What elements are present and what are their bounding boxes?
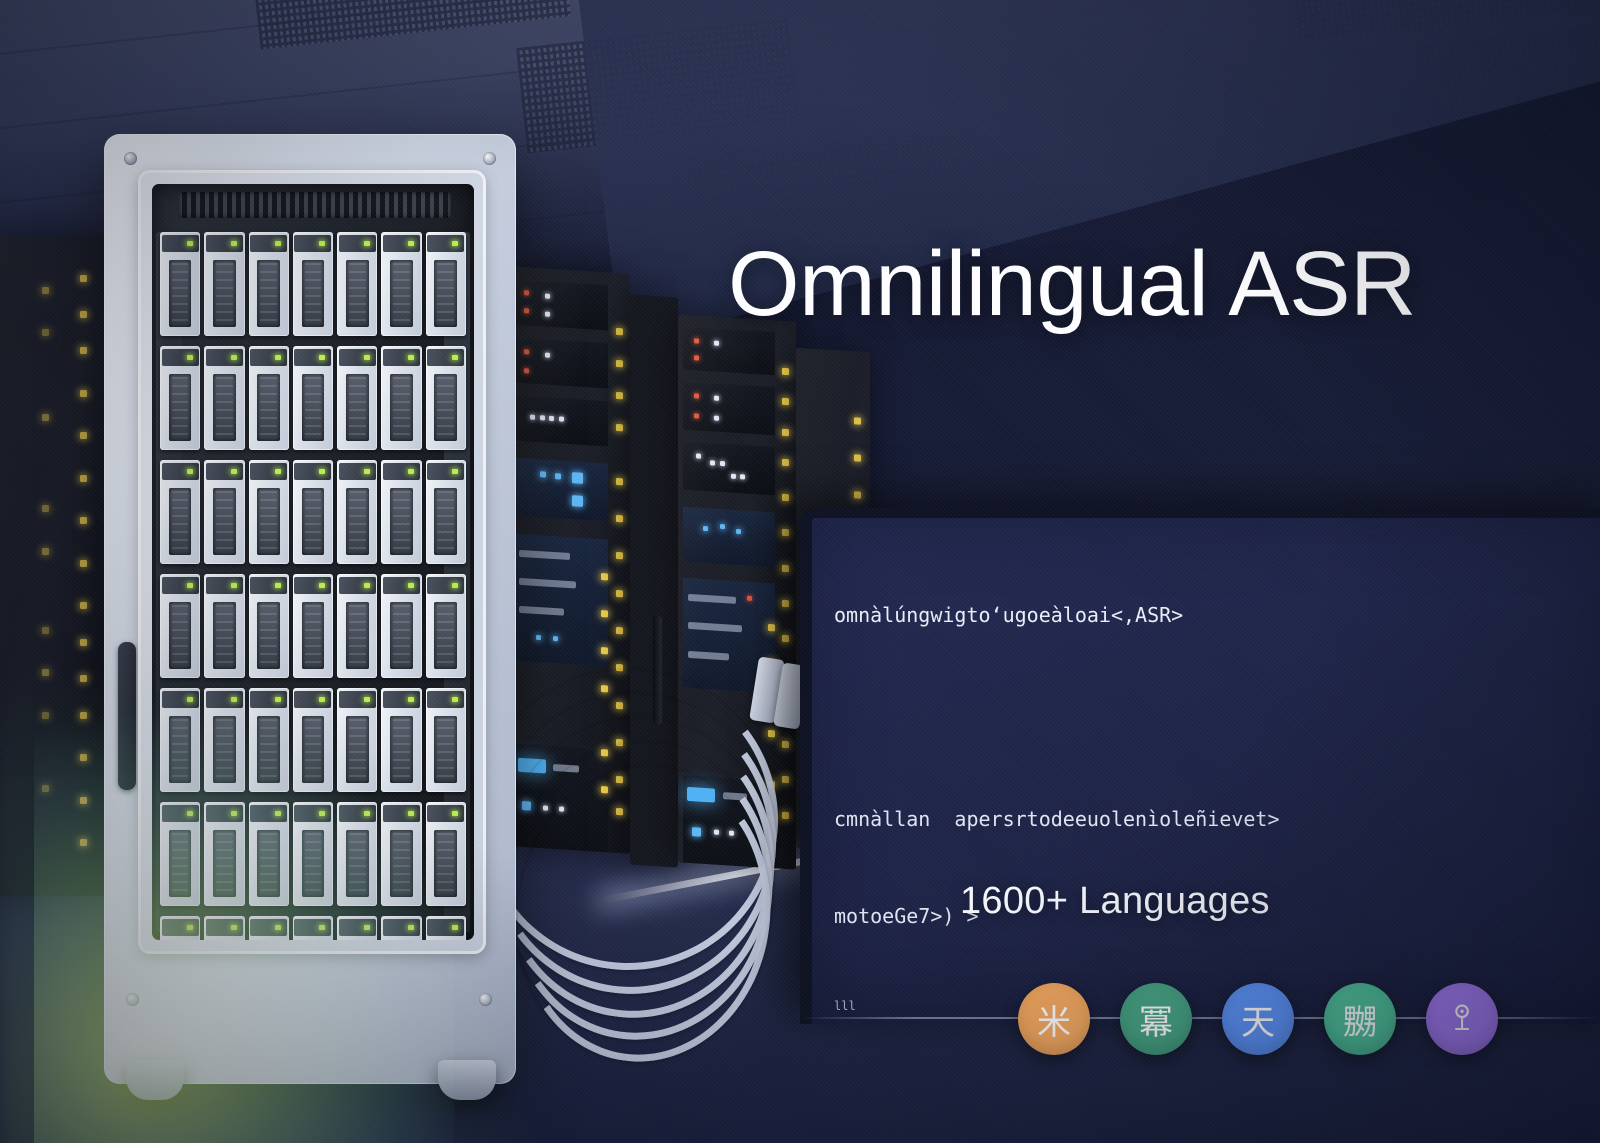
- foreground-server-rack: [104, 134, 516, 1084]
- drive-module: [204, 460, 244, 564]
- language-badge-4[interactable]: 嬲: [1324, 983, 1396, 1055]
- terminal-line: cmnàllan apersrtodeeuolenìoleñievet>: [834, 803, 1600, 835]
- language-badge-row: 米 冪 天 嬲 ꖶ: [1000, 983, 1540, 1055]
- language-badge-2[interactable]: 冪: [1120, 983, 1192, 1055]
- drive-module: [337, 916, 377, 940]
- drive-module: [337, 460, 377, 564]
- drive-module: [204, 232, 244, 336]
- top-vent-icon: [178, 192, 452, 218]
- terminal-line: omnàlúngwigtoʻugoeàloai<,ASR>: [834, 599, 1600, 631]
- drive-module: [160, 574, 200, 678]
- drive-module: [381, 574, 421, 678]
- drive-module: [160, 802, 200, 906]
- rack-door-window: [138, 170, 486, 954]
- rack-foot: [126, 1060, 184, 1100]
- drive-module: [204, 346, 244, 450]
- background-rack: [0, 236, 108, 896]
- language-badge-3[interactable]: 天: [1222, 983, 1294, 1055]
- drive-module: [381, 688, 421, 792]
- drive-module: [293, 574, 333, 678]
- drive-module: [160, 232, 200, 336]
- rack-door-handle[interactable]: [118, 642, 136, 790]
- terminal-panel[interactable]: omnàlúngwigtoʻugoeàloai<,ASR> cmnàllan a…: [800, 508, 1600, 1024]
- screw-icon: [483, 152, 496, 165]
- drive-shelf: [160, 688, 466, 792]
- screw-icon: [479, 993, 492, 1006]
- languages-count-label: 1600+ Languages: [960, 880, 1270, 923]
- drive-module: [160, 688, 200, 792]
- drive-shelf: [160, 802, 466, 906]
- drive-module: [337, 688, 377, 792]
- drive-module: [381, 802, 421, 906]
- drive-module: [426, 688, 466, 792]
- language-badge-5[interactable]: ꖶ: [1426, 983, 1498, 1055]
- drive-shelf: [160, 346, 466, 450]
- drive-shelf: [160, 460, 466, 564]
- drive-module: [249, 574, 289, 678]
- drive-module: [426, 574, 466, 678]
- drive-shelf: [160, 232, 466, 336]
- drive-module: [381, 232, 421, 336]
- drive-module: [249, 232, 289, 336]
- drive-module: [293, 688, 333, 792]
- drive-module: [293, 802, 333, 906]
- poster-canvas: Omnilingual ASR omnàlúngwigtoʻugoeàloai<…: [0, 0, 1600, 1143]
- drive-module: [426, 460, 466, 564]
- drive-module: [204, 916, 244, 940]
- drive-module: [337, 232, 377, 336]
- rack-foot: [438, 1060, 496, 1100]
- drive-module: [337, 574, 377, 678]
- drive-module: [426, 232, 466, 336]
- drive-module: [204, 802, 244, 906]
- drive-module: [293, 916, 333, 940]
- drive-module: [249, 346, 289, 450]
- drive-shelf: [160, 574, 466, 678]
- screw-icon: [126, 993, 139, 1006]
- drive-module: [293, 460, 333, 564]
- terminal-code-block: omnàlúngwigtoʻugoeàloai<,ASR> cmnàllan a…: [834, 534, 1600, 1024]
- drive-module: [426, 916, 466, 940]
- drive-module: [337, 802, 377, 906]
- drive-bay-array: [152, 184, 474, 940]
- drive-module: [204, 574, 244, 678]
- drive-module: [337, 346, 377, 450]
- page-title: Omnilingual ASR: [728, 238, 1416, 330]
- language-badge-1[interactable]: 米: [1018, 983, 1090, 1055]
- drive-module: [426, 346, 466, 450]
- drive-module: [160, 460, 200, 564]
- drive-module: [381, 346, 421, 450]
- drive-module: [249, 802, 289, 906]
- drive-module: [249, 460, 289, 564]
- drive-module: [381, 460, 421, 564]
- drive-module: [160, 346, 200, 450]
- drive-module: [293, 346, 333, 450]
- screw-icon: [124, 152, 137, 165]
- drive-module: [381, 916, 421, 940]
- drive-module: [249, 916, 289, 940]
- drive-module: [293, 232, 333, 336]
- drive-module: [249, 688, 289, 792]
- drive-module: [204, 688, 244, 792]
- drive-shelf: [160, 916, 466, 940]
- drive-module: [426, 802, 466, 906]
- drive-module: [160, 916, 200, 940]
